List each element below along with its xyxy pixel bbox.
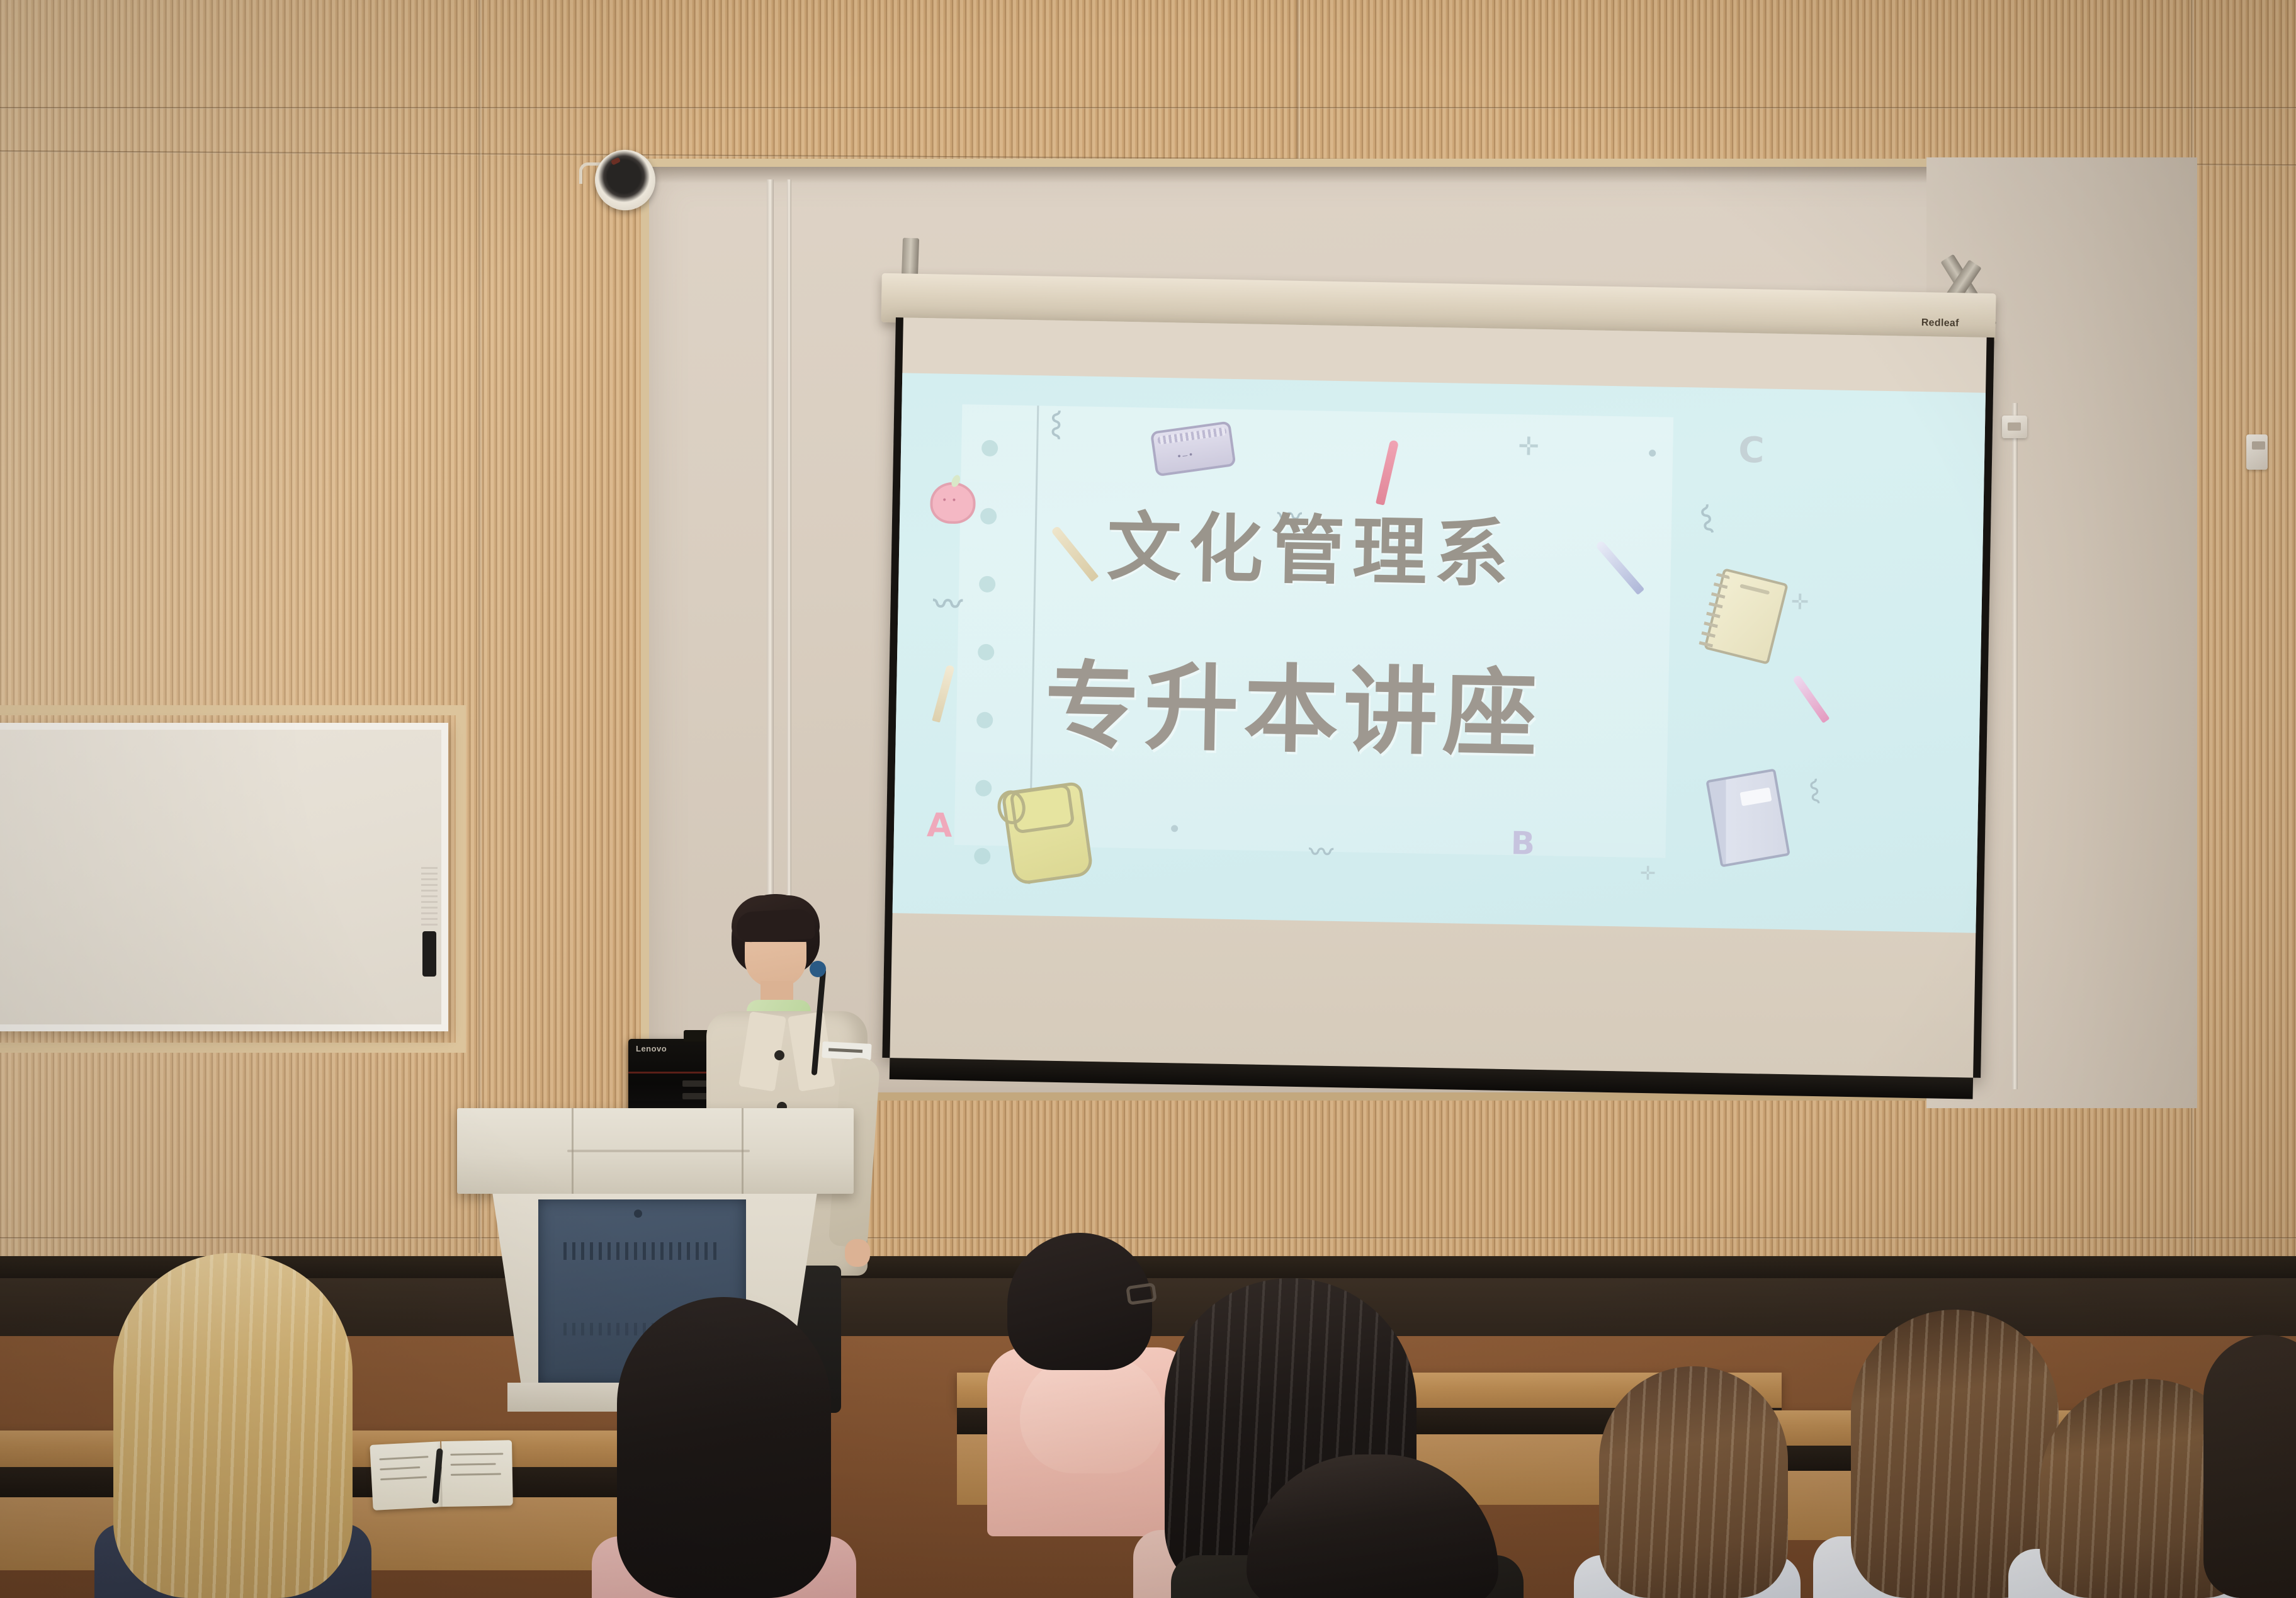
lecture-hall-scene: Redleaf 〰 A 〰 〰 ✛ C 〰 [0, 0, 2296, 1598]
wall-vseam [478, 0, 482, 1253]
wall-switch[interactable] [2246, 434, 2268, 470]
whiteboard-pen-tray [421, 867, 438, 927]
squiggle-icon: 〰 [933, 581, 963, 623]
spiral-notebook-icon [1704, 568, 1789, 665]
glasses-icon [1126, 1283, 1157, 1305]
notebook-line [379, 1456, 428, 1460]
letter-c-icon: C [1738, 430, 1765, 472]
open-notebook[interactable] [370, 1439, 517, 1512]
backpack-icon [1001, 781, 1094, 886]
cable-conduit [2012, 403, 2018, 1089]
pink-pen-icon [1792, 674, 1830, 723]
wall-vseam [1297, 0, 1300, 164]
sparkle-icon: ✛ [1791, 589, 1809, 615]
screen-brand-label: Redleaf [1921, 317, 1959, 329]
notebook-line [380, 1476, 427, 1480]
wall-seam-lower [0, 1237, 2296, 1239]
projected-slide: 〰 A 〰 〰 ✛ C 〰 ✛ 〰 〰 B ✛ [893, 373, 1986, 932]
dome-camera-icon [595, 150, 655, 210]
coat-button [774, 1050, 784, 1060]
name-badge [822, 1041, 871, 1060]
whiteboard[interactable] [0, 723, 448, 1031]
notebook-line [380, 1466, 420, 1470]
letter-b-icon: B [1510, 825, 1535, 862]
monitor-brand-label: Lenovo [636, 1044, 667, 1053]
hair-highlight [113, 1253, 353, 1598]
marker-icon[interactable] [422, 931, 436, 977]
notebook-line [450, 1453, 503, 1455]
squiggle-icon: 〰 [1037, 411, 1078, 439]
squiggle-icon: 〰 [1686, 501, 1731, 536]
microphone-head-icon [810, 961, 826, 977]
squiggle-icon: 〰 [1797, 777, 1835, 805]
notebook-line [451, 1473, 501, 1475]
wall-outlet[interactable] [2002, 416, 2027, 438]
audience-member-edge [2203, 1335, 2296, 1598]
podium-top [457, 1108, 854, 1194]
notebook-line [451, 1463, 496, 1466]
wall-seam [0, 107, 2296, 109]
presenter-hand [845, 1239, 870, 1267]
sparkle-icon: ✛ [1518, 432, 1539, 462]
notebook-page-right [441, 1440, 513, 1507]
letter-a-icon: A [927, 807, 953, 845]
paper-hole [974, 848, 990, 864]
hair-highlight [1599, 1366, 1788, 1598]
presenter-fringe [736, 909, 815, 943]
projection-screen: 〰 A 〰 〰 ✛ C 〰 ✛ 〰 〰 B ✛ [882, 317, 1994, 1078]
audience-member-dark-left [617, 1297, 831, 1598]
blue-book-icon [1705, 768, 1790, 867]
slide-subtitle: 专升本讲座 [1044, 659, 1707, 766]
apple-icon [930, 482, 976, 524]
yellow-pencil-icon [932, 664, 954, 722]
slide-title: 文化管理系 [1106, 509, 1661, 594]
podium-vent [563, 1242, 721, 1260]
hoodie-hood [1020, 1354, 1165, 1473]
squiggle-icon: 〰 [1309, 832, 1333, 868]
sparkle-icon: ✛ [1640, 863, 1656, 885]
podium-groove [567, 1150, 750, 1152]
